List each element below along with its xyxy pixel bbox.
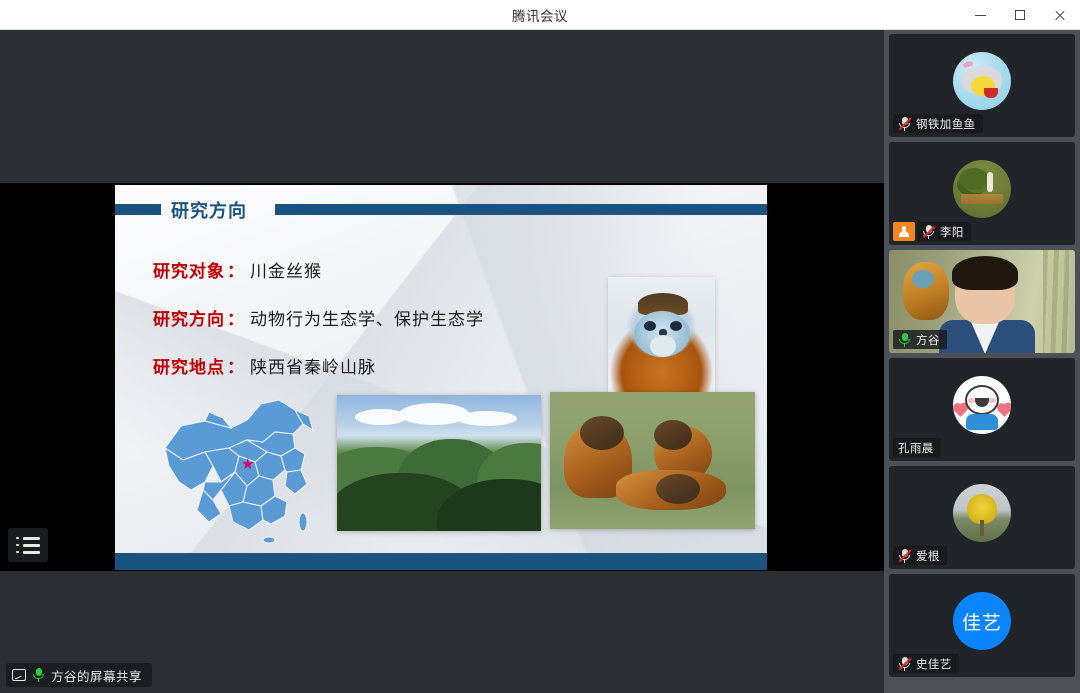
person-icon [899,226,910,237]
avatar-tree-trunk [980,520,984,536]
participant-name-tag: 孔雨晨 [893,438,941,457]
avatar-figure [987,172,993,192]
participant-name: 李阳 [940,224,964,240]
person-hair [952,256,1018,290]
slide-footer-bar [115,553,767,570]
avatar-accent [984,88,998,98]
participant-name-tag: 爱根 [893,546,947,565]
maximize-button[interactable] [1000,0,1040,30]
mic-muted-icon [922,225,935,239]
window-titlebar: 腾讯会议 [0,0,1080,30]
cloud [399,403,469,425]
participant-name-tag: 方谷 [893,330,947,349]
golden-monkeys-grooming-image [550,392,755,529]
tencent-meeting-window: 腾讯会议 研究方向 研究对象 ： 川金丝猴 [0,0,1080,693]
list-bar [23,551,41,554]
participant-name: 爱根 [916,548,940,564]
mic-muted-icon [898,657,911,671]
shared-slide: 研究方向 研究对象 ： 川金丝猴 研究方向 ： 动物行为生态学、保护生态学 研究… [115,185,767,570]
avatar [953,52,1011,110]
avatar [953,484,1011,542]
list-dot [16,551,19,554]
bullet-value: 川金丝猴 [250,257,322,282]
participant-list-icon[interactable] [8,528,48,562]
participant-name-tag: 史佳艺 [893,654,959,673]
monkey-head [656,474,700,504]
monkey-head [654,420,692,450]
bullet-label: 研究地点 [153,353,225,378]
screen-share-label: 方谷的屏幕共享 [6,663,152,687]
maximize-icon [1015,10,1025,20]
avatar [953,160,1011,218]
participant-tile[interactable]: 爱根 [889,466,1075,569]
slide-bullet: 研究地点 ： 陕西省秦岭山脉 [153,353,484,378]
qinling-mountains-image [337,395,541,531]
participant-tile-active-speaker[interactable]: 方谷 [889,250,1075,353]
heart-icon [954,405,967,418]
golden-monkey-portrait-image [608,277,715,407]
list-dot [16,537,19,540]
close-icon [1054,9,1066,21]
avatar-blush [989,398,996,403]
monkey-muzzle [650,335,676,357]
bullet-colon: ： [227,305,244,330]
participant-tile[interactable]: 钢铁加鱼鱼 [889,34,1075,137]
mic-on-icon [898,333,911,347]
window-title: 腾讯会议 [512,5,568,25]
monkey-head [580,416,624,450]
participant-name: 孔雨晨 [898,440,934,456]
participant-tile[interactable]: 李阳 [889,142,1075,245]
avatar: 佳艺 [953,592,1011,650]
mic-muted-icon [898,549,911,563]
host-badge [893,222,915,241]
list-row [16,551,40,554]
list-row [16,537,40,540]
participant-tile[interactable]: 佳艺 史佳艺 [889,574,1075,677]
bullet-value: 陕西省秦岭山脉 [250,353,376,378]
slide-header: 研究方向 [115,197,767,221]
screen-share-icon [12,669,26,681]
list-bar [23,544,41,547]
participant-name-tag: 钢铁加鱼鱼 [893,114,983,133]
participant-name-tag: 李阳 [917,222,971,241]
close-button[interactable] [1040,0,1080,30]
avatar [953,376,1011,434]
minimize-button[interactable] [960,0,1000,30]
list-row [16,544,40,547]
minimize-icon [975,15,986,16]
avatar-foliage [959,168,989,190]
avatar-initials: 佳艺 [962,608,1002,635]
slide-bullet: 研究方向 ： 动物行为生态学、保护生态学 [153,305,484,330]
shared-screen-stage[interactable]: 研究方向 研究对象 ： 川金丝猴 研究方向 ： 动物行为生态学、保护生态学 研究… [0,30,884,693]
participant-name: 史佳艺 [916,656,952,672]
video-background-monkey [903,262,949,320]
participant-tile[interactable]: 孔雨晨 [889,358,1075,461]
list-bar [23,537,41,540]
heart-icon [998,405,1011,418]
bullet-colon: ： [227,353,244,378]
bullet-colon: ： [227,257,244,282]
bullet-label: 研究对象 [153,257,225,282]
mic-muted-icon [898,117,911,131]
participant-name: 方谷 [916,332,940,348]
avatar-text-block [961,194,1003,204]
slide-bullet-list: 研究对象 ： 川金丝猴 研究方向 ： 动物行为生态学、保护生态学 研究地点 ： … [153,257,484,401]
participant-rail[interactable]: 钢铁加鱼鱼 李阳 [884,30,1080,693]
slide-accent-bar-left [115,204,161,215]
participant-name: 钢铁加鱼鱼 [916,116,976,132]
bullet-label: 研究方向 [153,305,225,330]
bullet-value: 动物行为生态学、保护生态学 [250,305,484,330]
monkey-eye-right [670,321,682,331]
monkey-eye-left [644,321,656,331]
location-star-marker: ★ [241,457,254,472]
slide-title: 研究方向 [171,197,247,223]
cloud [457,411,517,426]
screen-share-owner: 方谷的屏幕共享 [51,666,142,685]
list-dot [16,544,19,547]
slide-accent-bar-right [275,204,767,215]
slide-bullet: 研究对象 ： 川金丝猴 [153,257,484,282]
china-map-image: ★ [143,390,348,545]
mic-on-icon [32,668,45,682]
avatar-body [966,414,998,430]
video-background-bamboo [1043,250,1069,353]
window-controls [960,0,1080,30]
avatar-blush [968,398,975,403]
